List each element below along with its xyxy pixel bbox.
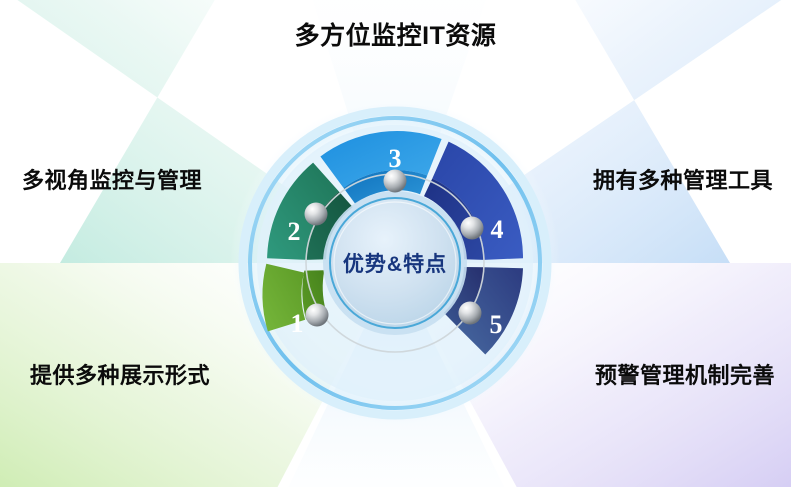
segment-number-4: 4: [491, 215, 504, 244]
circular-diagram: 优势&特点 1 2 3 4 5: [0, 0, 791, 487]
label-right-bottom: 预警管理机制完善: [595, 365, 775, 387]
segment-number-3: 3: [389, 144, 402, 173]
label-right-top: 拥有多种管理工具: [593, 170, 773, 192]
infographic-canvas: 优势&特点 1 2 3 4 5 多方位监控IT资源 多视角监控与管理 提供多种展…: [0, 0, 791, 487]
segment-number-5: 5: [490, 310, 503, 339]
marker-2[interactable]: [305, 203, 328, 226]
marker-4[interactable]: [461, 217, 484, 240]
marker-5[interactable]: [459, 302, 482, 325]
label-left-bottom: 提供多种展示形式: [30, 365, 210, 387]
marker-1[interactable]: [306, 304, 329, 327]
center-label: 优势&特点: [343, 252, 447, 276]
segment-number-2: 2: [288, 217, 301, 246]
segment-number-1: 1: [291, 309, 304, 338]
label-left-top: 多视角监控与管理: [22, 170, 202, 192]
marker-3[interactable]: [384, 170, 407, 193]
page-title: 多方位监控IT资源: [0, 24, 791, 49]
